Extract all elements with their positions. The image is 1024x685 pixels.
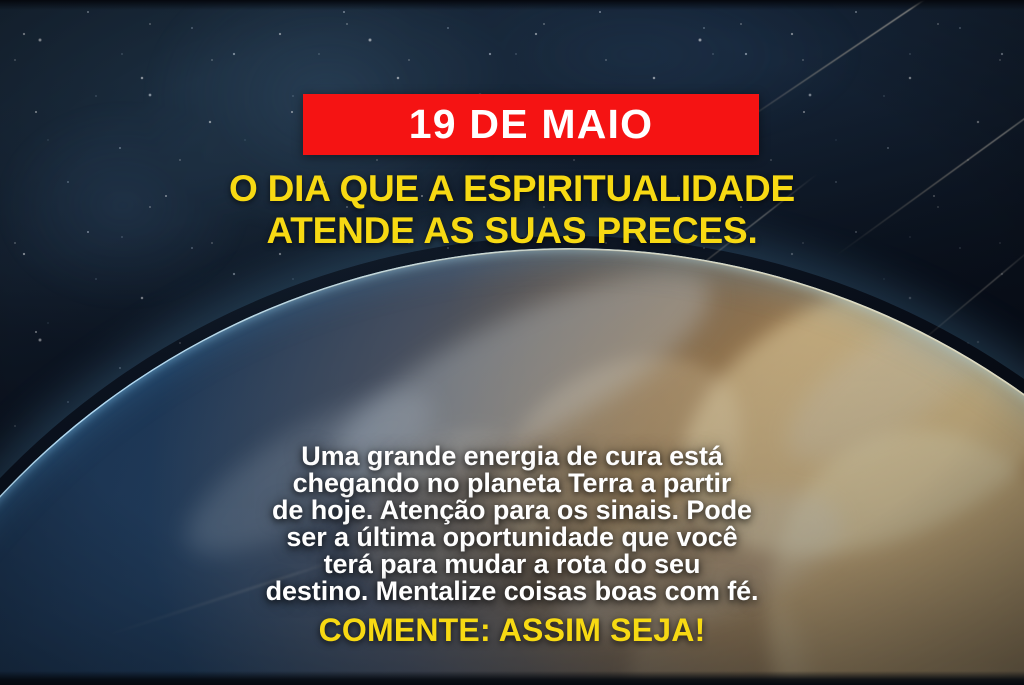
headline-line-2: ATENDE AS SUAS PRECES. xyxy=(0,210,1024,252)
body-line-2: chegando no planeta Terra a partir xyxy=(52,470,972,497)
body-paragraph: Uma grande energia de cura está chegando… xyxy=(52,443,972,605)
body-line-6: destino. Mentalize coisas boas com fé. xyxy=(52,578,972,605)
date-banner-label: 19 DE MAIO xyxy=(409,104,653,145)
body-line-1: Uma grande energia de cura está xyxy=(52,443,972,470)
date-banner: 19 DE MAIO xyxy=(303,94,759,155)
body-line-4: ser a última oportunidade que você xyxy=(52,524,972,551)
body-line-5: terá para mudar a rota do seu xyxy=(52,551,972,578)
body-line-3: de hoje. Atenção para os sinais. Pode xyxy=(52,497,972,524)
headline-line-1: O DIA QUE A ESPIRITUALIDADE xyxy=(0,168,1024,210)
headline: O DIA QUE A ESPIRITUALIDADE ATENDE AS SU… xyxy=(0,168,1024,252)
poster-canvas: 19 DE MAIO O DIA QUE A ESPIRITUALIDADE A… xyxy=(0,0,1024,685)
poster-content: 19 DE MAIO O DIA QUE A ESPIRITUALIDADE A… xyxy=(0,0,1024,685)
call-to-action-text: COMENTE: ASSIM SEJA! xyxy=(0,613,1024,648)
